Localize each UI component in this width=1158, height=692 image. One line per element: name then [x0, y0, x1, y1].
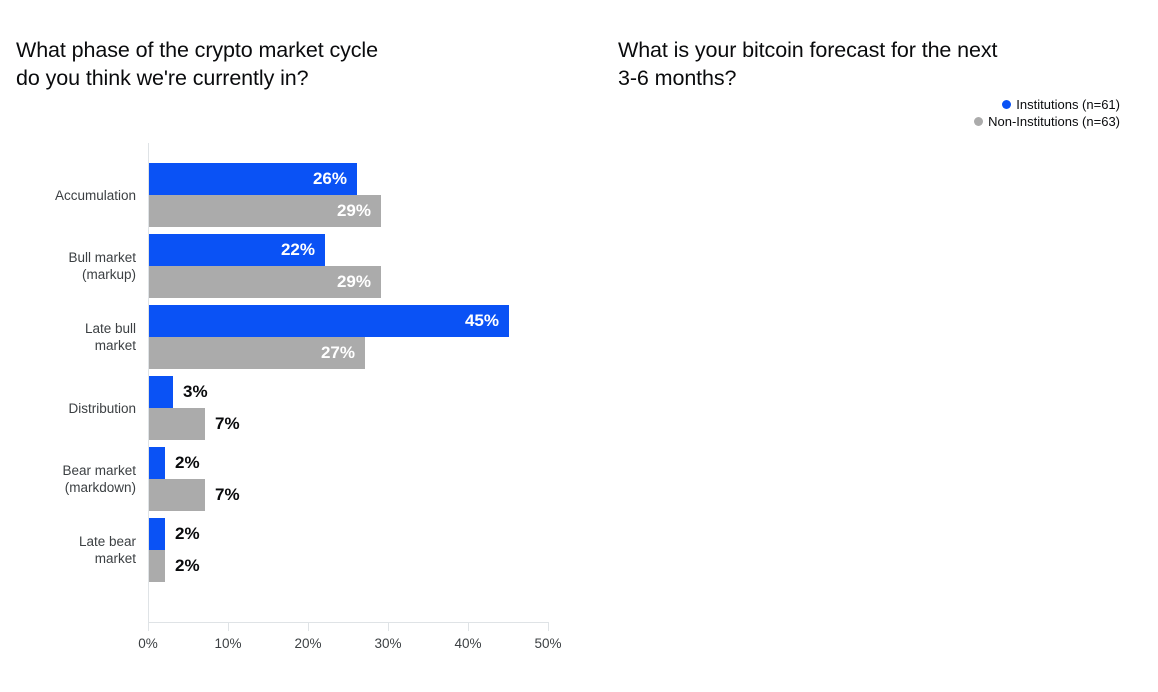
- bar-institutions[interactable]: [149, 376, 173, 408]
- category-label: Late bull market: [16, 320, 136, 354]
- chart-title-bitcoin-forecast: What is your bitcoin forecast for the ne…: [618, 36, 1138, 92]
- legend-dot-institutions-icon: [1002, 100, 1011, 109]
- x-axis-tick: [228, 622, 229, 631]
- bar-value-label: 22%: [149, 234, 315, 266]
- x-axis-tick: [308, 622, 309, 631]
- bar-non-institutions[interactable]: [149, 408, 205, 440]
- x-axis-line: [148, 622, 548, 623]
- bar-non-institutions[interactable]: [149, 479, 205, 511]
- legend-item-non-institutions: Non-Institutions (n=63): [974, 113, 1120, 130]
- bar-institutions[interactable]: [149, 447, 165, 479]
- chart-title-market-cycle: What phase of the crypto market cycle do…: [16, 36, 536, 92]
- bar-value-label: 26%: [149, 163, 347, 195]
- x-axis-tick: [548, 622, 549, 631]
- bar-value-label: 27%: [149, 337, 355, 369]
- chart-panel-market-cycle: What phase of the crypto market cycle do…: [0, 0, 580, 692]
- x-axis-tick-label: 0%: [138, 636, 158, 651]
- category-label: Distribution: [16, 400, 136, 417]
- legend-item-institutions: Institutions (n=61): [974, 96, 1120, 113]
- bar-institutions[interactable]: [149, 518, 165, 550]
- bar-value-label: 3%: [183, 376, 208, 408]
- bar-value-label: 2%: [175, 447, 200, 479]
- category-label: Accumulation: [16, 187, 136, 204]
- category-label: Late bear market: [16, 533, 136, 567]
- x-axis-tick-label: 50%: [534, 636, 561, 651]
- legend-label-non-institutions: Non-Institutions (n=63): [988, 114, 1120, 129]
- x-axis-tick: [468, 622, 469, 631]
- bar-value-label: 2%: [175, 550, 200, 582]
- bar-value-label: 7%: [215, 479, 240, 511]
- legend-label-institutions: Institutions (n=61): [1016, 97, 1120, 112]
- x-axis-tick: [148, 622, 149, 631]
- x-axis-tick-label: 20%: [294, 636, 321, 651]
- legend-dot-non-institutions-icon: [974, 117, 983, 126]
- category-label: Bull market (markup): [16, 249, 136, 283]
- bar-value-label: 7%: [215, 408, 240, 440]
- x-axis-tick-label: 40%: [454, 636, 481, 651]
- legend-bitcoin-forecast: Institutions (n=61) Non-Institutions (n=…: [974, 96, 1120, 130]
- category-label: Bear market (markdown): [16, 462, 136, 496]
- chart-panel-bitcoin-forecast: What is your bitcoin forecast for the ne…: [580, 0, 1158, 692]
- survey-charts-page: What phase of the crypto market cycle do…: [0, 0, 1158, 692]
- bar-value-label: 29%: [149, 195, 371, 227]
- x-axis-tick-label: 10%: [214, 636, 241, 651]
- bar-non-institutions[interactable]: [149, 550, 165, 582]
- bar-value-label: 45%: [149, 305, 499, 337]
- bar-value-label: 29%: [149, 266, 371, 298]
- plot-area-market-cycle: 0%10%20%30%40%50%Accumulation26%29%Bull …: [148, 143, 558, 656]
- bar-value-label: 2%: [175, 518, 200, 550]
- x-axis-tick-label: 30%: [374, 636, 401, 651]
- x-axis-tick: [388, 622, 389, 631]
